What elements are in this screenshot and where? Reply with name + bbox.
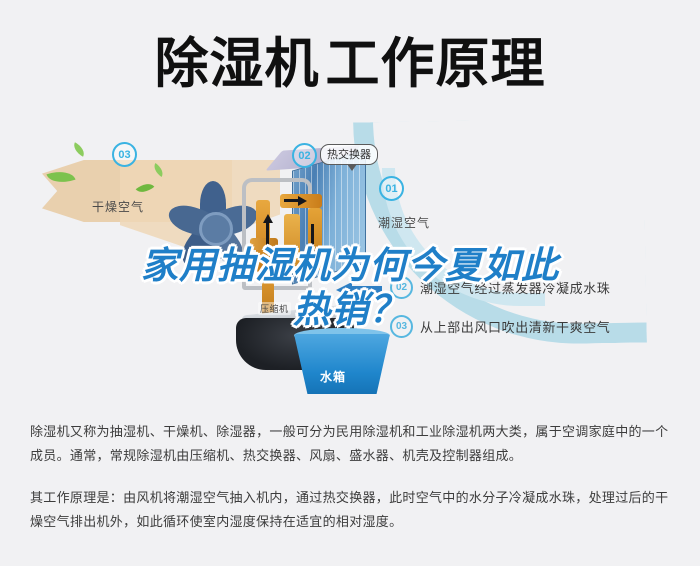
diagram-badge-01: 01 xyxy=(379,176,404,201)
diagram-badge-03: 03 xyxy=(112,142,137,167)
page-title-part2: 工作原理 xyxy=(326,34,546,94)
diagram-callout-heat-exchanger: 热交换器 xyxy=(320,144,378,165)
legend-item: 02 潮湿空气经过蒸发器冷凝成水珠 xyxy=(390,276,690,299)
legend-text-03: 从上部出风口吹出清新干爽空气 xyxy=(420,317,610,336)
water-tank xyxy=(294,334,390,394)
legend-item: 03 从上部出风口吹出清新干爽空气 xyxy=(390,315,690,338)
diagram-label-dry-air: 干燥空气 xyxy=(92,198,144,215)
intake-arrow-icon xyxy=(336,282,382,298)
dehumidifier-illustration: 压缩机 水箱 03 干燥空气 02 热交换器 01 潮湿空气 xyxy=(0,120,700,410)
infographic-page: 除湿机工作原理 xyxy=(0,0,700,566)
intake-arrow-stem xyxy=(350,286,382,295)
page-title-part1: 除湿机 xyxy=(155,34,320,94)
fan-hub xyxy=(199,212,233,246)
compressor-label: 压缩机 xyxy=(258,302,291,315)
dehumidifier-unit: 压缩机 水箱 xyxy=(232,142,402,392)
water-tank-label: 水箱 xyxy=(320,368,346,385)
legend-badge-03: 03 xyxy=(390,315,413,338)
leaf-icon xyxy=(71,142,88,157)
legend-text-02: 潮湿空气经过蒸发器冷凝成水珠 xyxy=(420,278,610,297)
flow-arrow-stem xyxy=(284,199,300,202)
refrigerant-pipe xyxy=(250,238,278,250)
body-paragraph-1: 除湿机又称为抽湿机、干燥机、除湿器，一般可分为民用除湿机和工业除湿机两大类，属于… xyxy=(30,420,678,468)
body-copy: 除湿机又称为抽湿机、干燥机、除湿器，一般可分为民用除湿机和工业除湿机两大类，属于… xyxy=(30,420,678,552)
step-legend: 02 潮湿空气经过蒸发器冷凝成水珠 03 从上部出风口吹出清新干爽空气 xyxy=(390,276,690,354)
intake-arrow-head xyxy=(336,282,352,298)
refrigerant-pipe xyxy=(284,214,300,272)
diagram-label-humid-air: 潮湿空气 xyxy=(378,214,430,231)
flow-arrow-stem xyxy=(311,224,314,250)
legend-badge-02: 02 xyxy=(390,276,413,299)
page-title: 除湿机工作原理 xyxy=(0,32,700,96)
flow-arrow-down-icon xyxy=(308,250,318,259)
body-paragraph-2: 其工作原理是：由风机将潮湿空气抽入机内，通过热交换器，此时空气中的水分子冷凝成水… xyxy=(30,486,678,534)
diagram-badge-02: 02 xyxy=(292,143,317,168)
flow-arrow-stem xyxy=(266,222,269,248)
